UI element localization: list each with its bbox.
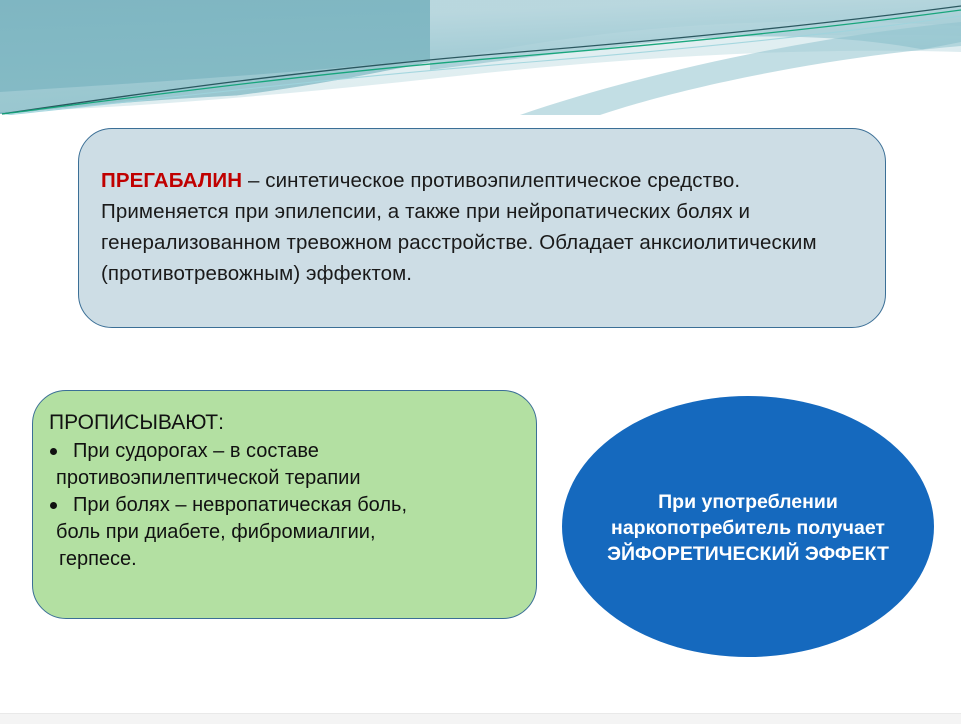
definition-callout-box: ПРЕГАБАЛИН – синтетическое противоэпилеп… (78, 128, 886, 328)
prescription-callout-box: ПРОПИСЫВАЮТ: При судорогах – в составе п… (32, 390, 537, 619)
list-item-line-2: боль при диабете, фибромиалгии, (56, 519, 522, 546)
prescription-list: При судорогах – в составе противоэпилепт… (47, 438, 522, 573)
footer-divider (0, 713, 961, 724)
bullet-dot-icon (50, 502, 57, 509)
list-item: При судорогах – в составе противоэпилепт… (47, 438, 522, 492)
list-item-line-1: При судорогах – в составе (73, 440, 319, 462)
list-item-line-2: противоэпилептической терапии (56, 465, 522, 492)
effect-line-1: При употреблении (658, 491, 838, 513)
slide-canvas: ПРЕГАБАЛИН – синтетическое противоэпилеп… (0, 0, 961, 724)
euphoric-effect-text: При употреблении наркопотребитель получа… (578, 489, 918, 567)
effect-line-3: ЭЙФОРЕТИЧЕСКИЙ ЭФФЕКТ (607, 543, 889, 565)
drug-name-label: ПРЕГАБАЛИН (101, 169, 242, 192)
list-item-line-3: герпесе. (59, 546, 522, 573)
teal-wave-banner-icon (0, 0, 961, 115)
list-item: При болях – невропатическая боль, боль п… (47, 492, 522, 573)
prescription-heading: ПРОПИСЫВАЮТ: (49, 409, 522, 437)
list-item-line-1: При болях – невропатическая боль, (73, 494, 407, 516)
bullet-dot-icon (50, 448, 57, 455)
euphoric-effect-ellipse: При употреблении наркопотребитель получа… (562, 396, 934, 657)
effect-line-2: наркопотребитель получает (611, 517, 885, 539)
definition-paragraph: ПРЕГАБАЛИН – синтетическое противоэпилеп… (101, 165, 857, 289)
